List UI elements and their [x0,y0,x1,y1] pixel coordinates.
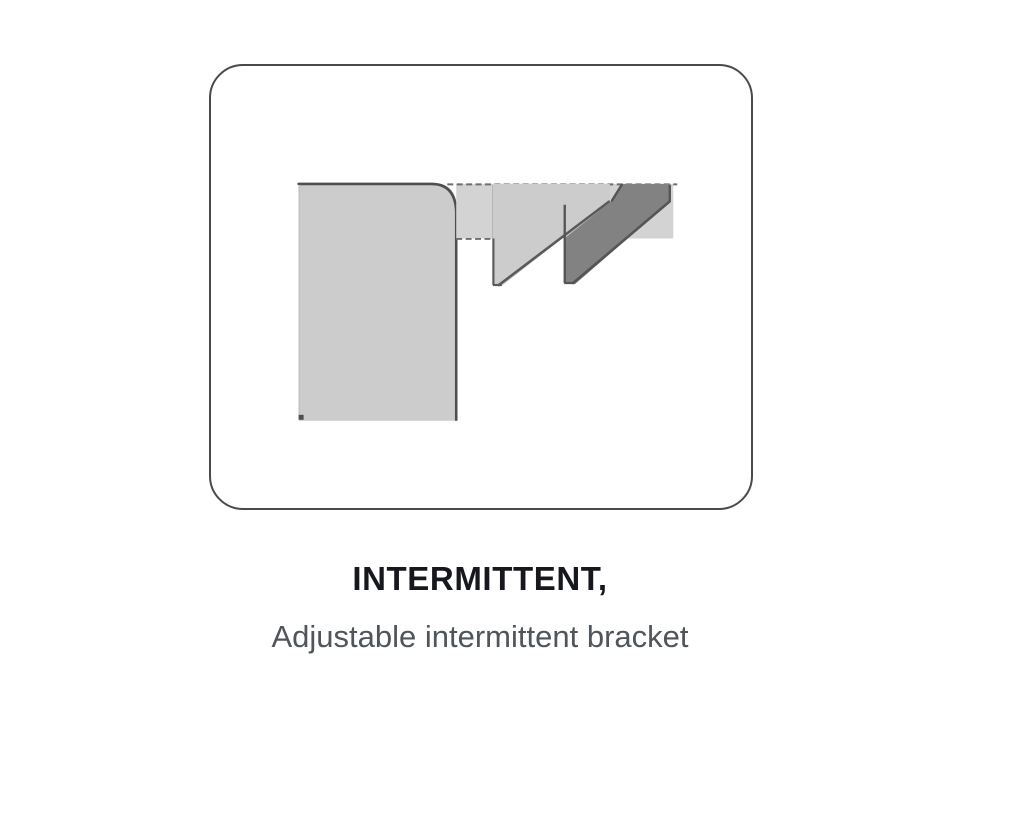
illustration-frame[interactable]: Adjustable intermittent bracket profile [209,64,753,510]
wall-plate-corner-mark [299,415,304,420]
caption-block: INTERMITTENT, Adjustable intermittent br… [140,560,820,658]
product-title: INTERMITTENT, [140,560,820,598]
intermittent-bracket-diagram: Adjustable intermittent bracket profile [211,66,751,508]
product-card: Adjustable intermittent bracket profile [0,0,1024,837]
product-subtitle: Adjustable intermittent bracket [180,616,780,658]
wall-plate-shape [299,183,458,421]
wall-plate-group [299,183,458,421]
